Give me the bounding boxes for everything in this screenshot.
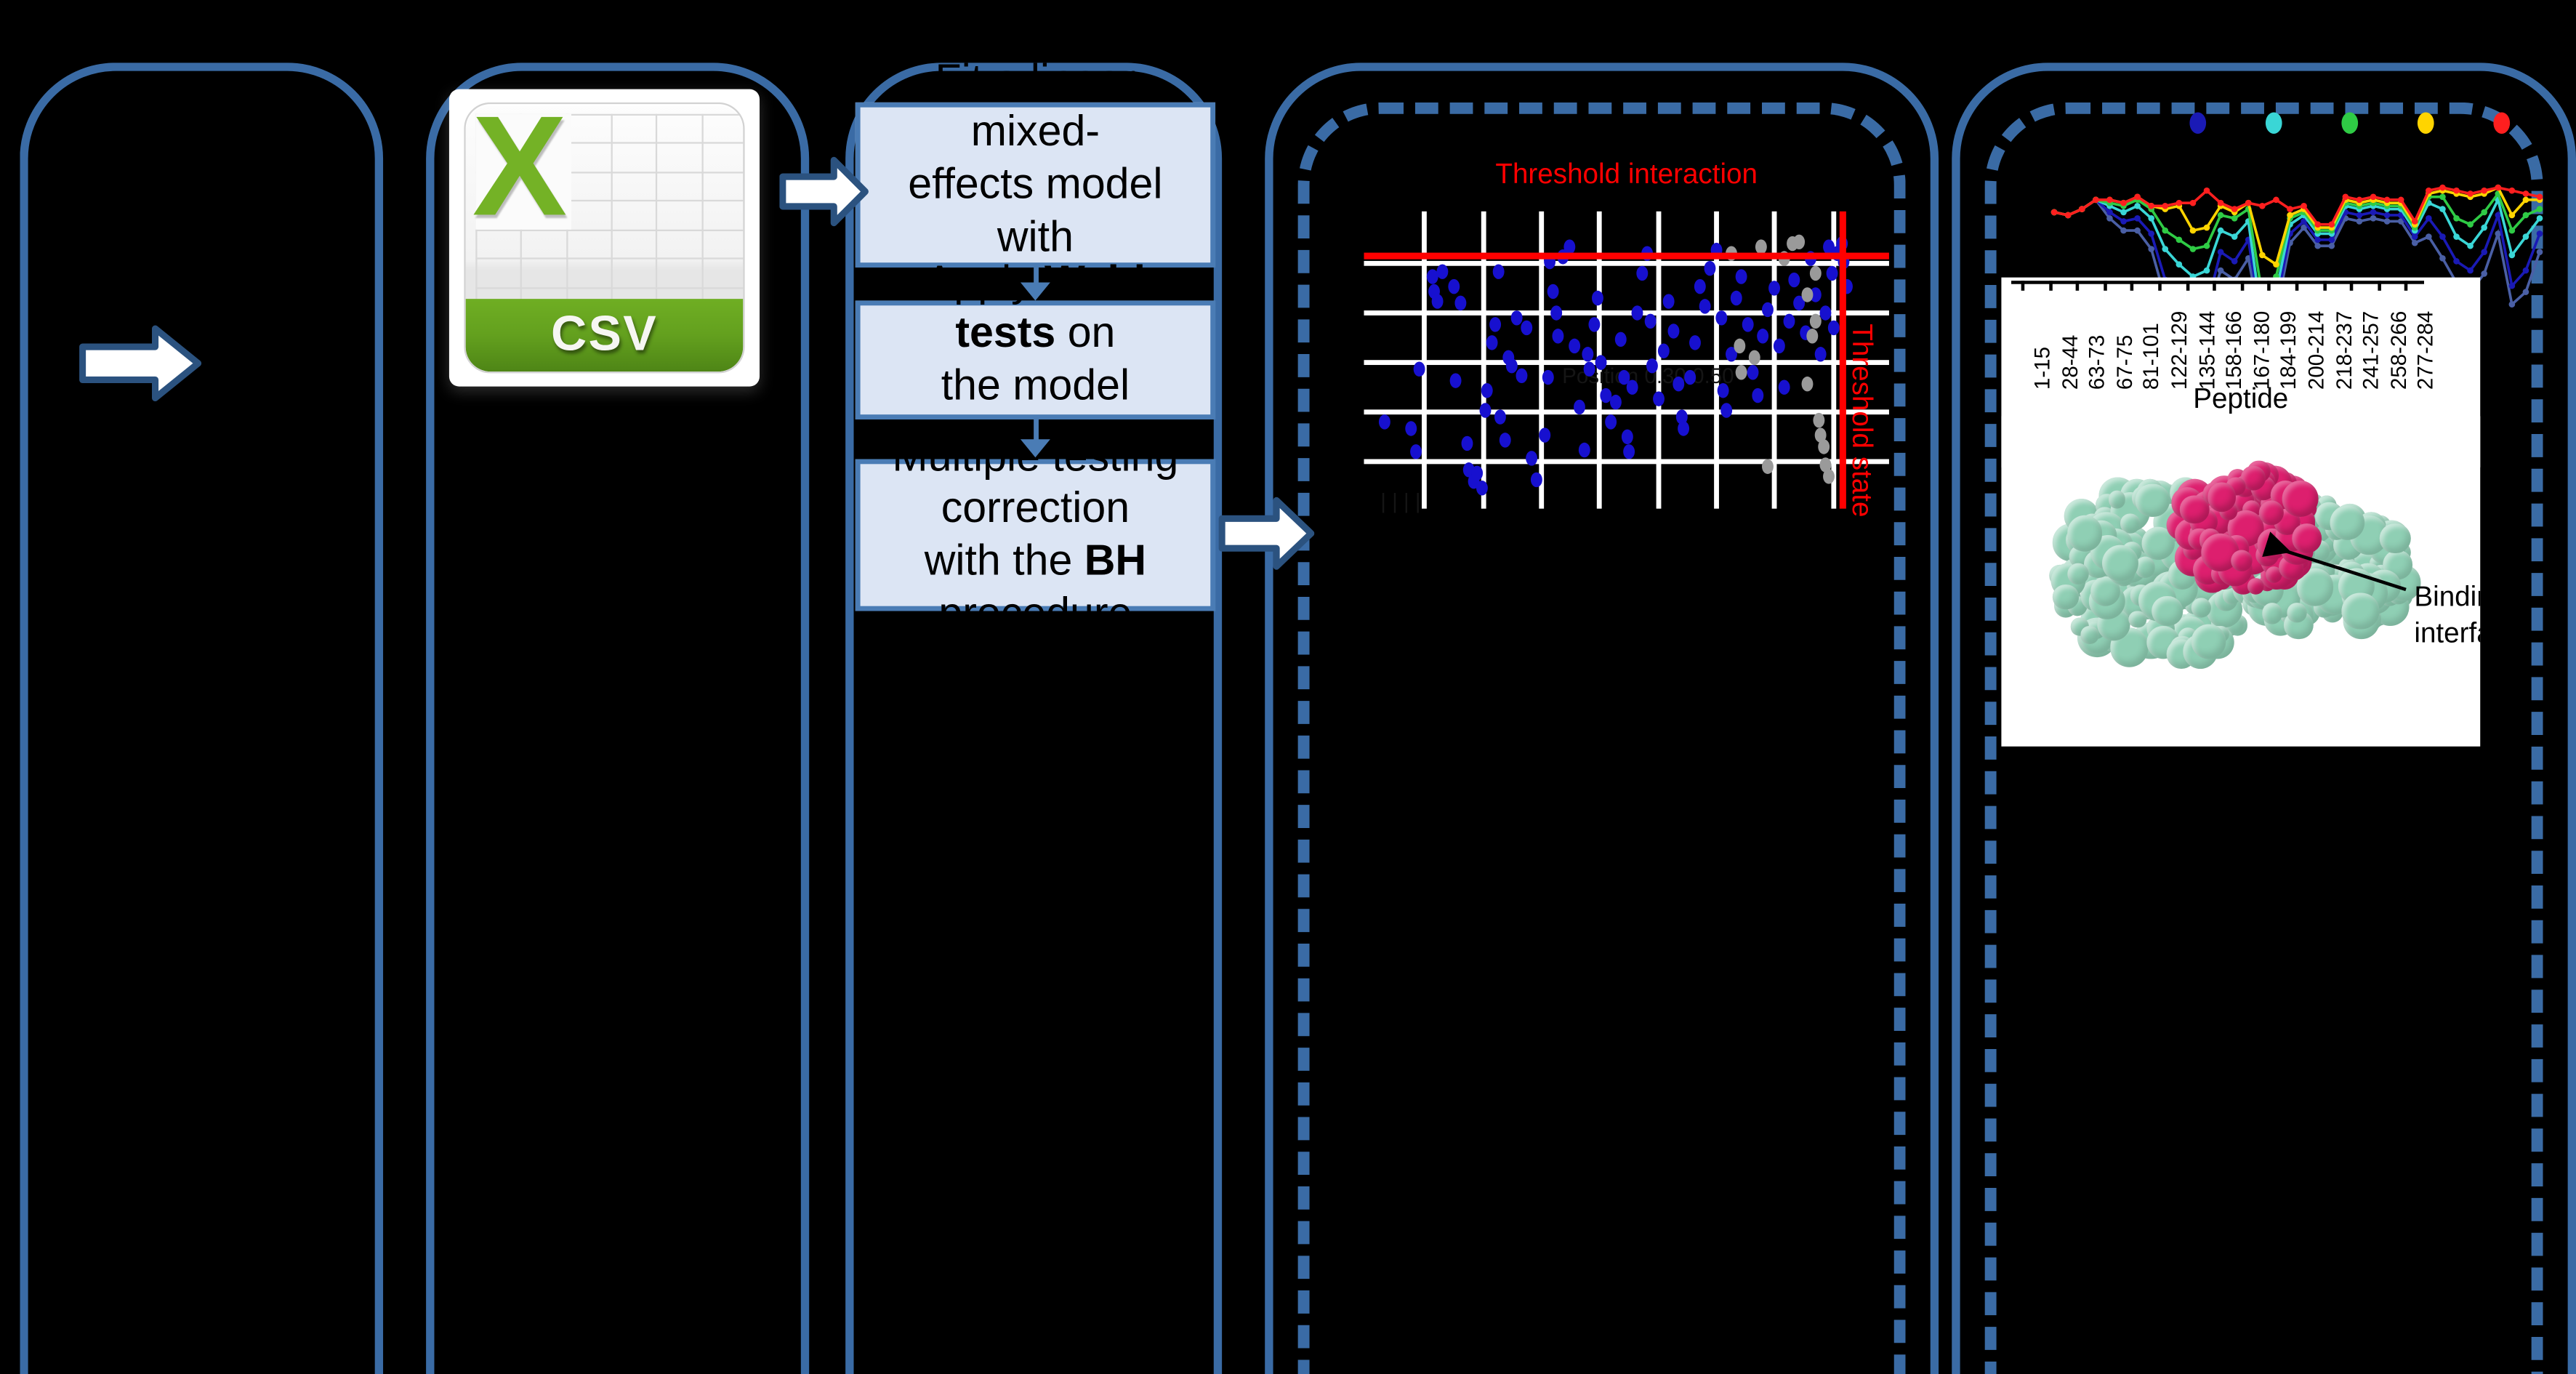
peptide-series-point — [2370, 193, 2377, 200]
peptide-series-point — [2384, 197, 2391, 204]
peptide-series-point — [2190, 200, 2197, 206]
peptide-tick-label: 81-101 — [2139, 323, 2164, 390]
scatter-point — [1542, 371, 1553, 385]
protein-structure-panel: Binding interface — [2001, 416, 2480, 746]
peptide-series-point — [2106, 197, 2113, 204]
scatter-point — [1818, 439, 1830, 454]
scatter-point — [1731, 290, 1742, 305]
binding-interface-label-line2: interface — [2414, 618, 2480, 651]
peptide-series-point — [2537, 206, 2543, 212]
peptide-tick-label: 135-144 — [2194, 311, 2218, 390]
peptide-series-point — [2523, 268, 2529, 274]
peptide-series-point — [2190, 246, 2197, 252]
scatter-point — [1616, 332, 1627, 346]
peptide-series-point — [2453, 258, 2460, 265]
peptide-axis-tick — [2158, 281, 2162, 291]
peptide-series-point — [2343, 193, 2349, 200]
scatter-point — [1610, 394, 1622, 409]
peptide-series-point — [2495, 185, 2501, 191]
peptide-series-point — [2328, 221, 2335, 228]
scatter-point — [1758, 329, 1769, 343]
peptide-tick-label: 277-284 — [2413, 311, 2438, 390]
scatter-point — [1500, 433, 1512, 447]
scatter-point — [1406, 421, 1417, 435]
scatter-point — [1539, 427, 1551, 441]
peptide-series-point — [2523, 289, 2529, 295]
peptide-series-point — [2384, 218, 2391, 225]
scatter-point — [1492, 263, 1504, 278]
peptide-series-point — [2204, 225, 2210, 231]
scatter-threshold-title: Threshold interaction — [1364, 158, 1889, 191]
peptide-series-point — [2537, 230, 2543, 237]
peptide-series-point — [2370, 209, 2377, 216]
scatter-point — [1623, 445, 1635, 459]
scatter-point — [1694, 278, 1706, 293]
scatter-point — [1823, 468, 1835, 483]
peptide-series-point — [2231, 215, 2238, 222]
peptide-tick-label: 218-237 — [2331, 311, 2356, 390]
peptide-series-point — [2190, 228, 2197, 234]
scatter-point — [1505, 358, 1517, 373]
peptide-series-point — [2523, 212, 2529, 219]
peptide-tick-label: 167-180 — [2249, 311, 2274, 390]
peptide-series-point — [2412, 218, 2418, 225]
peptide-axis-tick — [2405, 281, 2409, 291]
scatter-point — [1605, 415, 1617, 430]
step-box-bh: Multiple testingcorrectionwith the BH pr… — [856, 459, 1215, 611]
scatter-point — [1812, 412, 1824, 427]
peptide-axis-line — [2011, 281, 2424, 284]
peptide-series-point — [2134, 215, 2141, 222]
peptide-tick-label: 67-75 — [2112, 335, 2136, 390]
protein-surface-blob — [2288, 603, 2307, 622]
peptide-series-point — [2426, 233, 2432, 240]
protein-surface-blob — [2191, 598, 2210, 617]
scatter-point — [1450, 374, 1462, 388]
csv-card: X CSV — [464, 103, 744, 374]
scatter-point — [1752, 388, 1763, 403]
scatter-point — [1663, 293, 1675, 308]
scatter-point — [1807, 329, 1819, 343]
scatter-plot: Position 0.30 0.50| | | | — [1364, 212, 1889, 509]
scatter-point — [1736, 364, 1748, 379]
scatter-point — [1636, 266, 1648, 281]
protein-surface-blob — [2066, 515, 2102, 551]
peptide-axis-tick — [2268, 281, 2271, 291]
peptide-tick-label: 63-73 — [2084, 335, 2109, 390]
csv-format-label: CSV — [551, 308, 658, 363]
peptide-series-point — [2162, 246, 2168, 252]
protein-surface-blob — [2380, 523, 2411, 553]
scatter-point — [1826, 266, 1838, 281]
peptide-series-point — [2106, 215, 2113, 222]
peptide-series-point — [2218, 200, 2224, 206]
scatter-point — [1516, 367, 1527, 382]
scatter-point — [1652, 391, 1664, 406]
peptide-axis-tick — [2104, 281, 2107, 291]
scatter-point — [1626, 379, 1638, 394]
peptide-axis-tick — [2322, 281, 2326, 291]
peptide-series-point — [2204, 188, 2210, 194]
block-arrow-csv-to-model — [779, 156, 869, 228]
peptide-series-point — [2509, 283, 2516, 289]
scatter-point — [1828, 320, 1840, 334]
peptide-series-point — [2412, 240, 2418, 246]
scatter-point — [1487, 334, 1499, 349]
scatter-point — [1510, 311, 1522, 326]
peptide-series-point — [2439, 185, 2446, 191]
peptide-axis-tick — [2076, 281, 2080, 291]
peptide-series-point — [2537, 193, 2543, 200]
peptide-axis-tick — [2350, 281, 2354, 291]
peptide-axis-tick — [2021, 281, 2025, 291]
peptide-tick-label: 184-199 — [2276, 311, 2301, 390]
block-arrow-model-to-results — [1219, 495, 1315, 571]
peptide-series-point — [2412, 233, 2418, 240]
peptide-legend-dot — [2189, 112, 2206, 134]
peptide-series-point — [2148, 246, 2154, 252]
peptide-series-point — [2439, 193, 2446, 200]
peptide-series-point — [2051, 209, 2058, 216]
peptide-tick-label: 28-44 — [2057, 335, 2082, 390]
scatter-point — [1471, 465, 1483, 480]
peptide-series-point — [2453, 233, 2460, 240]
scatter-point — [1742, 317, 1753, 332]
peptide-series-point — [2523, 190, 2529, 197]
ligand-surface-blob — [2258, 499, 2283, 524]
peptide-series-point — [2079, 206, 2085, 212]
scatter-point — [1778, 379, 1790, 394]
peptide-series-point — [2328, 237, 2335, 244]
peptide-series-point — [2148, 203, 2154, 209]
peptide-series-point — [2301, 203, 2307, 209]
scatter-point — [1657, 344, 1669, 358]
peptide-series-point — [2509, 252, 2516, 259]
peptide-series-point — [2481, 209, 2487, 216]
peptide-series-point — [2426, 215, 2432, 222]
scatter-point — [1489, 317, 1501, 332]
protein-surface-blob — [2102, 545, 2139, 582]
peptide-tick-label: 241-257 — [2359, 311, 2383, 390]
scatter-point — [1810, 314, 1822, 329]
peptide-series-point — [2287, 206, 2293, 212]
peptide-series-point — [2481, 270, 2487, 277]
peptide-series-point — [2356, 218, 2363, 225]
peptide-series-point — [2134, 193, 2141, 200]
step-box-reml: Fit a linear mixed-effects model withREM… — [856, 103, 1215, 268]
ligand-surface-blob — [2293, 523, 2322, 553]
peptide-axis-tick — [2131, 281, 2135, 291]
peptide-series-point — [2467, 268, 2474, 274]
peptide-series-point — [2273, 197, 2279, 204]
binding-interface-label-line1: Binding — [2414, 582, 2480, 615]
csv-format-band: CSV — [466, 299, 744, 371]
peptide-series-point — [2523, 197, 2529, 204]
peptide-series-point — [2134, 228, 2141, 234]
scatter-point — [1794, 233, 1806, 248]
peptide-series-point — [2439, 206, 2446, 212]
scatter-point — [1747, 364, 1758, 379]
scatter-point — [1720, 403, 1732, 417]
ligand-surface-blob — [2282, 480, 2318, 516]
peptide-series-point — [2120, 218, 2127, 225]
peptide-series-point — [2467, 190, 2474, 197]
ligand-surface-blob — [2207, 483, 2236, 511]
peptide-series-point — [2537, 215, 2543, 222]
peptide-legend-dot — [2266, 112, 2282, 134]
peptide-tick-label: 258-266 — [2386, 311, 2410, 390]
peptide-series-point — [2481, 188, 2487, 194]
peptide-series-point — [2314, 243, 2321, 249]
peptide-series-point — [2509, 212, 2516, 219]
peptide-series-point — [2509, 228, 2516, 234]
scatter-point — [1550, 305, 1561, 320]
scatter-point — [1820, 305, 1832, 320]
peptide-series-point — [2106, 209, 2113, 216]
step-text-bh: Multiple testingcorrectionwith the BH pr… — [870, 430, 1200, 640]
scatter-point — [1460, 435, 1472, 450]
scatter-point — [1413, 361, 1425, 376]
peptide-tick-label: 122-129 — [2167, 311, 2191, 390]
scatter-gridline-h — [1364, 409, 1889, 414]
scatter-point — [1768, 281, 1779, 296]
protein-surface-blob — [2191, 624, 2226, 659]
scatter-point — [1631, 305, 1643, 320]
scatter-point — [1481, 382, 1493, 397]
scatter-point — [1789, 273, 1800, 287]
scatter-point — [1568, 338, 1579, 353]
peptide-legend-dot — [2341, 112, 2358, 134]
peptide-series-point — [2259, 252, 2266, 259]
peptide-series-point — [2148, 215, 2154, 222]
peptide-series-point — [2218, 249, 2224, 255]
scatter-point — [1668, 323, 1680, 337]
peptide-series-point — [2231, 206, 2238, 212]
peptide-series-point — [2453, 188, 2460, 194]
peptide-series-point — [2426, 188, 2432, 194]
scatter-point — [1582, 347, 1593, 361]
scatter-gridline-h — [1364, 310, 1889, 316]
connector-reml-to-wald — [1034, 268, 1039, 284]
scatter-point — [1773, 338, 1784, 353]
peptide-axis-tick — [2295, 281, 2299, 291]
scatter-point — [1810, 266, 1822, 281]
peptide-axis-tick — [2048, 281, 2052, 291]
peptide-series-point — [2523, 233, 2529, 240]
peptide-series-point — [2287, 212, 2293, 219]
peptide-series-point — [2328, 243, 2335, 249]
peptide-axis-tick — [2240, 281, 2244, 291]
csv-file-icon: X CSV — [449, 89, 760, 387]
peptide-series-point — [2509, 188, 2516, 194]
peptide-axis-tick — [2186, 281, 2189, 291]
peptide-series-point — [2204, 268, 2210, 274]
scatter-faint-label: | | | | — [1380, 489, 1420, 513]
peptide-series-point — [2162, 228, 2168, 234]
peptide-series-point — [2148, 230, 2154, 237]
connector-wald-to-bh — [1034, 419, 1039, 441]
peptide-legend-dot — [2493, 112, 2510, 134]
protein-surface-blob — [2341, 592, 2379, 630]
scatter-point — [1476, 481, 1488, 495]
scatter-threshold-interaction-line — [1364, 253, 1889, 260]
scatter-point — [1553, 329, 1564, 343]
peptide-series-point — [2467, 243, 2474, 249]
peptide-tick-label: 200-214 — [2303, 311, 2328, 390]
peptide-series-point — [2453, 215, 2460, 222]
peptide-series-point — [2176, 261, 2183, 268]
scatter-point — [1592, 290, 1603, 305]
peptide-series-point — [2176, 200, 2183, 206]
scatter-point — [1815, 347, 1827, 361]
excel-x-letter: X — [472, 108, 578, 230]
peptide-series-point — [2065, 212, 2072, 219]
scatter-point — [1736, 269, 1748, 284]
scatter-point — [1579, 442, 1590, 457]
block-arrow-input-to-csv — [79, 324, 201, 403]
peptide-series-point — [2384, 212, 2391, 219]
protein-surface-blob — [2081, 627, 2098, 644]
peptide-series-point — [2162, 203, 2168, 209]
peptide-series-point — [2509, 301, 2516, 308]
peptide-legend-dot — [2418, 112, 2434, 134]
peptide-series-point — [2120, 209, 2127, 216]
step-box-wald: Apply Wald tests onthe model parameters — [856, 300, 1215, 419]
scatter-point — [1447, 278, 1459, 293]
connector-arrowhead-bh — [1021, 439, 1050, 457]
peptide-series-point — [2259, 203, 2266, 209]
peptide-series-point — [2231, 233, 2238, 240]
peptide-tick-label: 158-166 — [2221, 311, 2246, 390]
peptide-series-point — [2439, 255, 2446, 262]
peptide-series-point — [2218, 268, 2224, 274]
peptide-axis-title: Peptide — [2001, 383, 2480, 416]
peptide-series-point — [2370, 215, 2377, 222]
peptide-series-point — [2176, 237, 2183, 244]
scatter-point — [1734, 338, 1745, 353]
scatter-point — [1411, 445, 1422, 459]
peptide-series-point — [2481, 225, 2487, 231]
scatter-point — [1432, 293, 1444, 308]
peptide-series-point — [2218, 228, 2224, 234]
scatter-point — [1678, 421, 1690, 435]
peptide-series-point — [2314, 221, 2321, 228]
peptide-series-point — [2537, 249, 2543, 255]
peptide-series-point — [2356, 212, 2363, 219]
peptide-series-point — [2481, 249, 2487, 255]
peptide-axis-tick — [2378, 281, 2381, 291]
scatter-gridline-h — [1364, 459, 1889, 465]
stage-input-panel — [20, 63, 383, 1374]
scatter-point — [1621, 430, 1633, 444]
scatter-point — [1689, 334, 1701, 349]
scatter-point — [1547, 284, 1559, 299]
peptide-series-point — [2231, 258, 2238, 265]
scatter-point — [1521, 320, 1533, 334]
scatter-point — [1644, 314, 1656, 329]
peptide-series-point — [2356, 197, 2363, 204]
peptide-series-point — [2120, 200, 2127, 206]
peptide-series-point — [2467, 221, 2474, 228]
peptide-series-point — [2439, 233, 2446, 240]
scatter-threshold-state-label: Threshold state — [1845, 324, 1877, 517]
protein-surface-blob — [2263, 603, 2282, 623]
peptide-series-point — [2134, 203, 2141, 209]
scatter-point — [1479, 403, 1491, 417]
peptide-series-point — [2314, 237, 2321, 244]
scatter-point — [1755, 240, 1766, 254]
peptide-series-point — [2245, 200, 2252, 206]
scatter-point — [1455, 296, 1467, 310]
peptide-series-point — [2273, 261, 2279, 268]
scatter-point — [1784, 314, 1795, 329]
protein-surface-blob — [2136, 483, 2169, 517]
connector-arrowhead-wald — [1021, 282, 1050, 300]
protein-surface-blob — [2108, 491, 2125, 508]
peptide-series-point — [2093, 197, 2099, 204]
scatter-point — [1379, 415, 1390, 430]
peptide-series-point — [2120, 228, 2127, 234]
peptide-series-point — [2398, 197, 2404, 204]
peptide-series-point — [2204, 243, 2210, 249]
scatter-point — [1802, 377, 1814, 391]
peptide-series-point — [2218, 212, 2224, 219]
peptide-axis-tick — [2213, 281, 2217, 291]
